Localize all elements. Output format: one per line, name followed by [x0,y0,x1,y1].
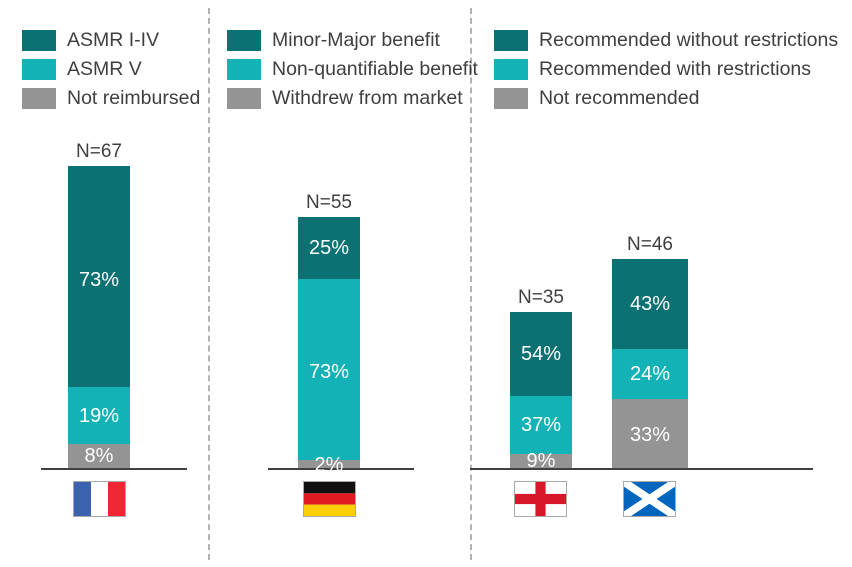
bar-group-scotland: N=46 43% 24% 33% [612,235,688,468]
flag-england-icon [514,481,567,517]
legend-item: Not recommended [494,84,838,113]
n-label: N=35 [510,288,572,307]
legend-item: Non-quantifiable benefit [227,55,478,84]
bar-segment-withdrew-from-market[interactable]: 2% [298,460,360,468]
legend-swatch-icon [227,30,261,51]
segment-value-label: 37% [510,415,572,435]
legend-item: Recommended with restrictions [494,55,838,84]
legend-swatch-icon [22,59,56,80]
legend-swatch-icon [22,88,56,109]
segment-value-label: 73% [298,362,360,382]
bar-group-germany: N=55 25% 73% 2% [298,193,360,468]
flag-scotland-icon [623,481,676,517]
segment-value-label: 33% [612,425,688,445]
segment-value-label: 54% [510,344,572,364]
legend-item: Withdrew from market [227,84,478,113]
legend-swatch-icon [227,59,261,80]
stacked-bar-england[interactable]: 54% 37% 9% [510,312,572,468]
legend-item: Recommended without restrictions [494,26,838,55]
legend-item: ASMR V [22,55,200,84]
legend-item-label: Non-quantifiable benefit [272,60,478,80]
bar-segment-asmr-i-iv[interactable]: 73% [68,166,130,387]
n-label: N=46 [612,235,688,254]
legend-item-label: Withdrew from market [272,89,463,109]
n-label: N=55 [298,193,360,212]
bar-segment-recommended-with-restrictions[interactable]: 37% [510,396,572,454]
legend-swatch-icon [494,59,528,80]
panel-divider-1 [208,8,210,560]
segment-value-label: 24% [612,364,688,384]
bar-segment-recommended-without-restrictions[interactable]: 54% [510,312,572,396]
flag-germany-icon [303,481,356,517]
stacked-bar-france[interactable]: 73% 19% 8% [68,166,130,468]
bar-segment-recommended-without-restrictions[interactable]: 43% [612,259,688,349]
legend-item: ASMR I-IV [22,26,200,55]
legend-item: Minor-Major benefit [227,26,478,55]
bar-segment-not-recommended[interactable]: 9% [510,454,572,468]
legend-item-label: Not reimbursed [67,89,200,109]
stacked-bar-germany[interactable]: 25% 73% 2% [298,217,360,468]
legend-swatch-icon [494,88,528,109]
baseline-france [41,468,187,470]
segment-value-label: 19% [68,406,130,426]
stacked-bar-chart: ASMR I-IV ASMR V Not reimbursed Minor-Ma… [0,0,852,567]
bar-group-france: N=67 73% 19% 8% [68,142,130,468]
bar-group-england: N=35 54% 37% 9% [510,288,572,468]
segment-value-label: 9% [510,451,572,471]
bar-segment-minor-major-benefit[interactable]: 25% [298,217,360,279]
legend-item-label: Minor-Major benefit [272,31,440,51]
n-label: N=67 [68,142,130,161]
legend-item-label: Not recommended [539,89,699,109]
bar-segment-non-quantifiable-benefit[interactable]: 73% [298,279,360,460]
segment-value-label: 73% [68,270,130,290]
bar-segment-not-recommended[interactable]: 33% [612,399,688,468]
legend-england-scotland: Recommended without restrictions Recomme… [494,26,838,113]
bar-segment-recommended-with-restrictions[interactable]: 24% [612,349,688,399]
legend-item-label: ASMR I-IV [67,31,159,51]
segment-value-label: 25% [298,238,360,258]
legend-france: ASMR I-IV ASMR V Not reimbursed [22,26,200,113]
legend-item-label: Recommended with restrictions [539,60,811,80]
legend-swatch-icon [494,30,528,51]
legend-germany: Minor-Major benefit Non-quantifiable ben… [227,26,478,113]
legend-swatch-icon [22,30,56,51]
bar-segment-asmr-v[interactable]: 19% [68,387,130,445]
segment-value-label: 8% [68,446,130,466]
segment-value-label: 2% [298,455,360,475]
flag-france-icon [73,481,126,517]
legend-swatch-icon [227,88,261,109]
legend-item-label: ASMR V [67,60,142,80]
legend-item: Not reimbursed [22,84,200,113]
bar-segment-not-reimbursed[interactable]: 8% [68,444,130,468]
legend-item-label: Recommended without restrictions [539,31,838,51]
stacked-bar-scotland[interactable]: 43% 24% 33% [612,259,688,468]
segment-value-label: 43% [612,294,688,314]
